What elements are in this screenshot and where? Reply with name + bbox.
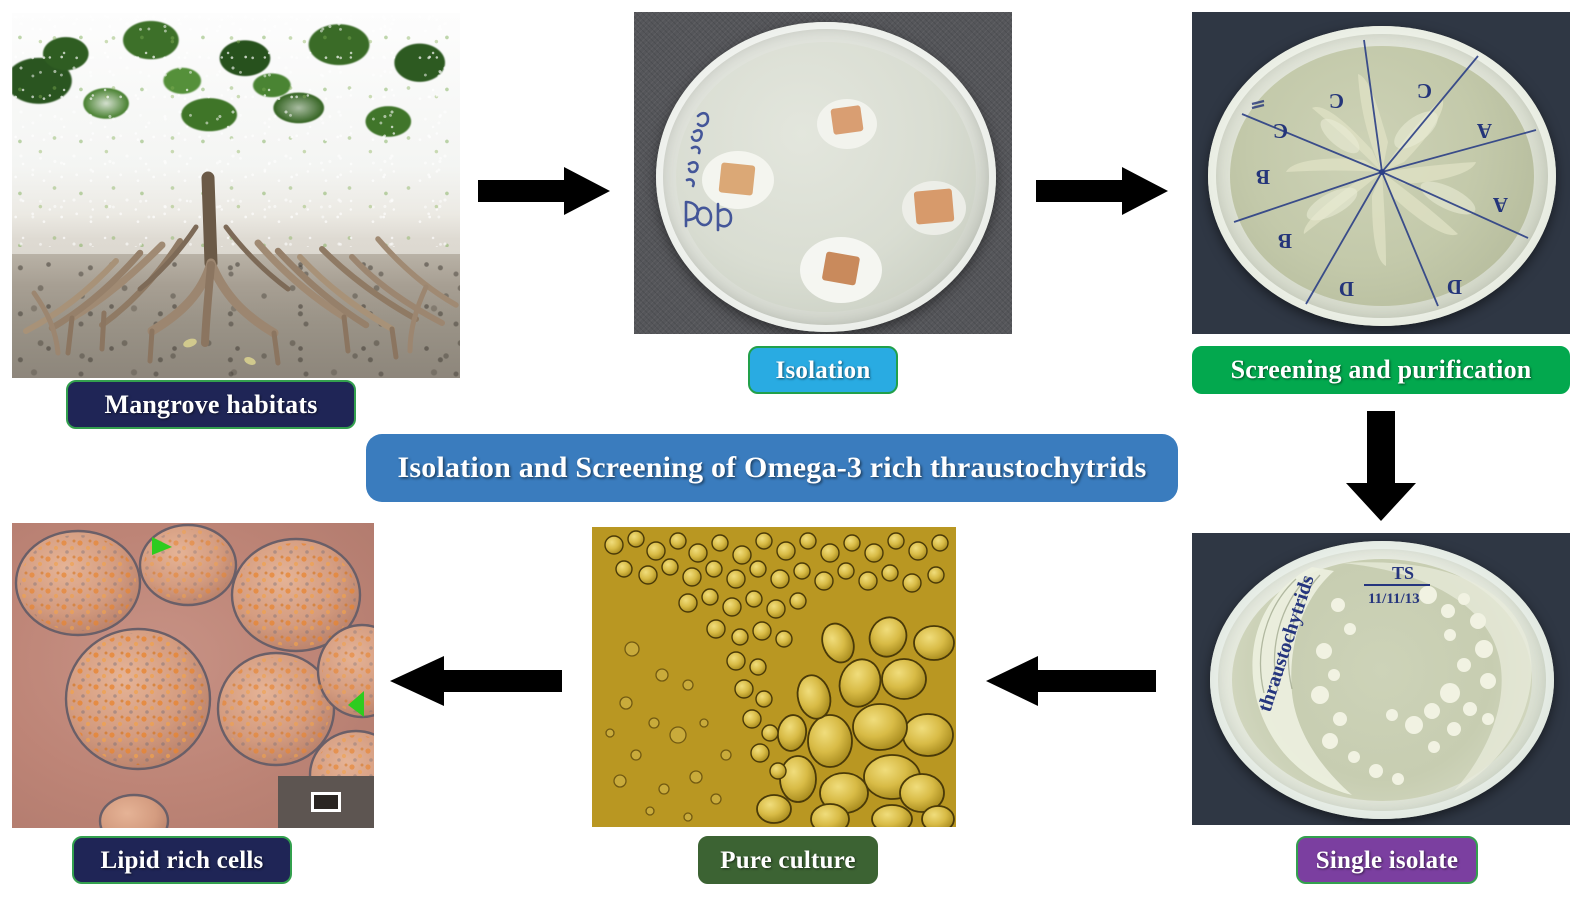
pure-culture-cells [592, 527, 956, 827]
arrow-mangrove-to-isolation [478, 166, 610, 216]
svg-text:B: B [1278, 229, 1292, 253]
arrow-isolation-to-screening [1036, 166, 1168, 216]
microscope-overlay-box [278, 776, 374, 828]
chip-mangrove-habitats[interactable]: Mangrove habitats [66, 380, 356, 429]
overlay-rectangle-icon [311, 792, 341, 812]
svg-text:A: A [1492, 193, 1508, 217]
chip-screening-and-purification[interactable]: Screening and purification [1192, 346, 1570, 394]
banner-title: Isolation and Screening of Omega-3 rich … [398, 453, 1147, 483]
screening-plate-contents: A A D D B B C C C [1192, 12, 1570, 334]
prop-roots [12, 13, 460, 378]
graphical-abstract: Mangrove habitats [0, 0, 1584, 907]
svg-text:TS: TS [1392, 563, 1414, 583]
mangrove-photo [12, 13, 460, 378]
title-banner: Isolation and Screening of Omega-3 rich … [366, 434, 1178, 502]
chip-label: Mangrove habitats [104, 392, 317, 418]
svg-text:B: B [1256, 165, 1270, 189]
chip-lipid-rich-cells[interactable]: Lipid rich cells [72, 836, 292, 884]
panel-mangrove-habitats [12, 13, 460, 378]
isolation-plate-contents [634, 12, 1012, 334]
panel-single-isolate: thraustochytrids TS 11/11/13 [1192, 533, 1570, 825]
svg-text:C: C [1417, 79, 1432, 103]
chip-label: Lipid rich cells [101, 848, 264, 873]
svg-text:D: D [1447, 275, 1462, 299]
svg-text:D: D [1339, 277, 1354, 301]
arrow-screening-to-single-isolate [1345, 411, 1417, 521]
chip-label: Pure culture [720, 848, 855, 873]
svg-text:11/11/13: 11/11/13 [1368, 591, 1420, 607]
isolation-plate-photo [634, 12, 1012, 334]
panel-isolation [634, 12, 1012, 334]
chip-single-isolate[interactable]: Single isolate [1296, 836, 1478, 884]
arrow-pure-culture-to-lipid-rich-cells [390, 655, 562, 707]
chip-label: Screening and purification [1231, 357, 1532, 383]
panel-pure-culture [592, 527, 956, 827]
chip-isolation[interactable]: Isolation [748, 346, 898, 394]
panel-lipid-rich-cells [12, 523, 374, 828]
single-isolate-contents: thraustochytrids TS 11/11/13 [1192, 533, 1570, 825]
svg-text:C: C [1329, 89, 1344, 113]
lipid-rich-cells-micrograph [12, 523, 374, 828]
single-isolate-plate-photo: thraustochytrids TS 11/11/13 [1192, 533, 1570, 825]
chip-label: Single isolate [1316, 848, 1458, 873]
chip-pure-culture[interactable]: Pure culture [698, 836, 878, 884]
svg-text:A: A [1476, 119, 1492, 143]
arrow-single-isolate-to-pure-culture [986, 655, 1156, 707]
chip-label: Isolation [776, 358, 871, 383]
svg-text:C: C [1273, 119, 1288, 143]
screening-plate-photo: A A D D B B C C C [1192, 12, 1570, 334]
panel-screening-and-purification: A A D D B B C C C [1192, 12, 1570, 334]
pure-culture-micrograph [592, 527, 956, 827]
